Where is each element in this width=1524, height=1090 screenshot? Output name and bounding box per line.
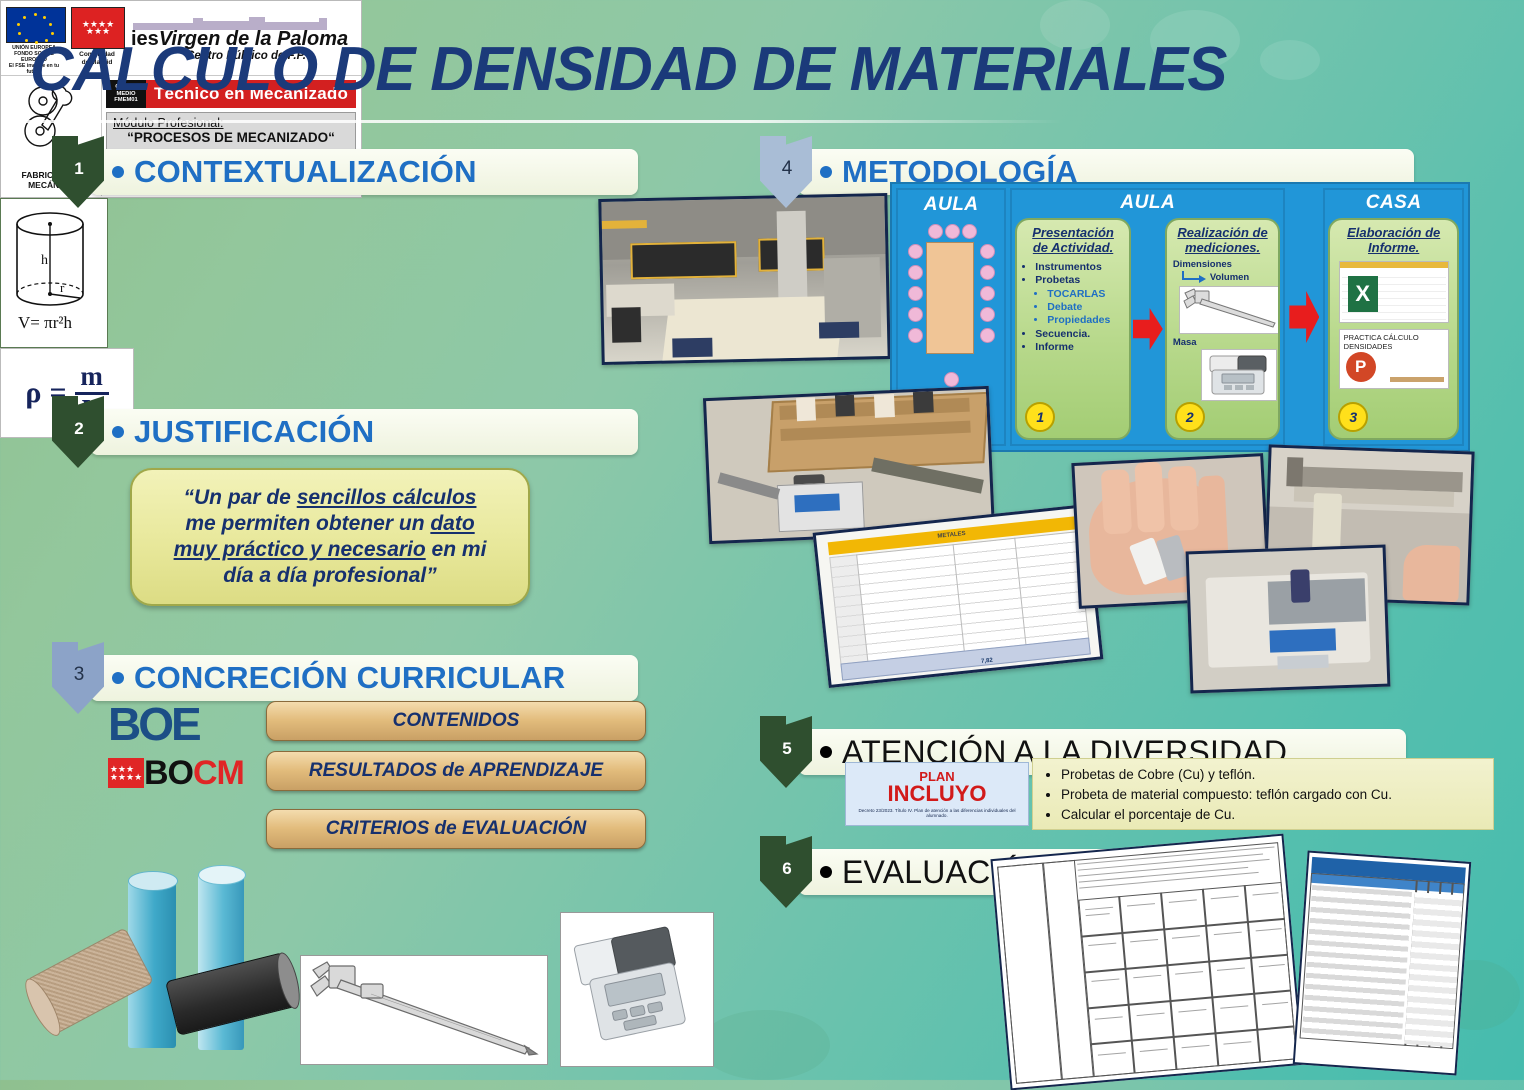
step-presentacion: Presentaciónde Actividad. Instrumentos P…	[1015, 218, 1131, 440]
chevron-5-icon: 5	[760, 716, 812, 788]
chevron-number: 4	[782, 158, 793, 180]
seat-icon	[908, 265, 923, 280]
scale-image-card	[560, 912, 714, 1067]
pill-label: CONTENIDOS	[393, 710, 520, 732]
bullet-icon	[820, 746, 832, 758]
chevron-1-icon: 1	[52, 136, 104, 208]
svg-text:h: h	[41, 253, 48, 268]
bullet-icon	[112, 672, 124, 684]
ppt-title-1: PRACTICA CÁLCULO	[1344, 333, 1419, 342]
digital-scale-icon	[1202, 350, 1274, 398]
arrow-right-icon-2	[1289, 291, 1319, 343]
step-subbullets: TOCARLAS Debate Propiedades	[1025, 288, 1123, 327]
casa-column: CASA Elaboración deInforme. X PRACTICA C…	[1323, 188, 1464, 446]
classroom-table	[926, 242, 974, 354]
aula-steps-column: AULA Presentaciónde Actividad. Instrumen…	[1010, 188, 1285, 446]
decreto-text: Decreto 23/2023. Título IV. Plan de aten…	[846, 808, 1028, 819]
pill-criterios-evaluacion[interactable]: CRITERIOS de EVALUACIÓN	[266, 809, 646, 849]
classroom-layout-diagram	[902, 220, 1000, 408]
step-title: Elaboración deInforme.	[1336, 225, 1451, 255]
bullet-icon	[112, 426, 124, 438]
aula-label-2-wrap: AULA	[1012, 190, 1283, 216]
title-divider	[22, 120, 1062, 123]
step-title: Realización demediciones.	[1173, 225, 1273, 255]
seat-icon	[980, 307, 995, 322]
plan-incluyo-logo: PLAN INCLUYO Decreto 23/2023. Título IV.…	[845, 762, 1029, 826]
chevron-6-icon: 6	[760, 836, 812, 908]
bg-blotch	[1260, 40, 1320, 80]
excel-icon: X	[1348, 276, 1378, 312]
list-item: Instrumentos	[1035, 261, 1123, 274]
svg-text:V= πr²h: V= πr²h	[18, 313, 72, 332]
cylinder-volume-card: h r V= πr²h	[0, 198, 108, 348]
bullet-icon	[820, 866, 832, 878]
masa-label: Masa	[1173, 337, 1273, 348]
aula-label: AULA	[924, 194, 979, 216]
section-label: CONTEXTUALIZACIÓN	[134, 154, 477, 190]
seat-icon	[980, 244, 995, 259]
section-header-justificacion: 2 JUSTIFICACIÓN	[52, 396, 638, 468]
list-item: Propiedades	[1047, 314, 1123, 327]
chevron-number: 5	[782, 739, 791, 759]
seat-icon	[945, 224, 960, 239]
list-item: Probeta de material compuesto: teflón ca…	[1061, 785, 1483, 805]
digital-scale-icon	[561, 913, 705, 1058]
page-title: CÁLCULO DE DENSIDAD DE MATERIALES	[30, 34, 1226, 105]
list-item: Calcular el porcentaje de Cu.	[1061, 805, 1483, 825]
madrid-flag-icon: ★★★★★★★	[71, 7, 125, 49]
bocm-logo: ★★★★★★★ BO CM	[108, 752, 262, 794]
step-mediciones: Realización demediciones. Dimensiones Vo…	[1165, 218, 1281, 440]
seat-icon	[908, 286, 923, 301]
weighing-photo	[1186, 545, 1391, 694]
step-bullets-2: Secuencia. Informe	[1025, 328, 1123, 354]
list-item: Probetas de Cobre (Cu) y teflón.	[1061, 765, 1483, 785]
svg-text:r: r	[60, 280, 65, 295]
step-badge: 1	[1025, 402, 1055, 432]
excel-thumb: X	[1339, 261, 1449, 323]
step-badge: 2	[1175, 402, 1205, 432]
caliper-thumb	[1179, 286, 1281, 334]
caliper-icon	[301, 956, 539, 1056]
list-item: Secuencia.	[1035, 328, 1123, 341]
step-badge: 3	[1338, 402, 1368, 432]
section-title-bar: CONCRECIÓN CURRICULAR	[90, 655, 638, 701]
list-item: TOCARLAS	[1047, 288, 1123, 301]
diversidad-bullet-list: Probetas de Cobre (Cu) y teflón. Probeta…	[1043, 765, 1483, 825]
seat-icon	[980, 265, 995, 280]
madrid-mini-flag-icon: ★★★★★★★	[108, 758, 144, 788]
rubric-document-2	[1293, 851, 1472, 1076]
list-item: Informe	[1035, 341, 1123, 354]
section-title-bar: CONTEXTUALIZACIÓN	[90, 149, 638, 195]
boe-text: BOE	[108, 698, 199, 750]
section-title-bar: JUSTIFICACIÓN	[90, 409, 638, 455]
bullet-icon	[820, 166, 832, 178]
caliper-image-card	[300, 955, 548, 1065]
building-silhouette-icon	[131, 14, 361, 30]
dimensiones-label: Dimensiones	[1173, 259, 1273, 270]
seat-icon	[908, 307, 923, 322]
spreadsheet-photo: METALES 7,82	[813, 504, 1104, 688]
chevron-number: 6	[782, 859, 791, 879]
arrow-elbow-icon	[1181, 270, 1207, 284]
volumen-label: Volumen	[1210, 272, 1249, 283]
seat-icon	[980, 286, 995, 301]
justificacion-quote-box: “Un par de sencillos cálculos me permite…	[130, 468, 530, 606]
bocm-bo-text: BO	[144, 754, 193, 793]
scale-thumb	[1201, 349, 1277, 401]
rho-symbol: ρ	[25, 376, 41, 410]
seat-icon	[962, 224, 977, 239]
seat-icon	[908, 244, 923, 259]
caliper-icon	[1180, 287, 1280, 329]
bocm-cm-text: CM	[193, 754, 244, 793]
ppt-thumb: PRACTICA CÁLCULO DENSIDADES P	[1339, 329, 1449, 389]
bg-blotch	[700, 1010, 830, 1080]
casa-label-wrap: CASA	[1325, 190, 1462, 216]
chevron-4-icon: 4	[760, 136, 812, 208]
step-informe: Elaboración deInforme. X PRACTICA CÁLCUL…	[1328, 218, 1459, 440]
chevron-number: 1	[74, 159, 83, 179]
quote-text: “Un par de sencillos cálculos me permite…	[174, 485, 487, 589]
powerpoint-icon: P	[1346, 352, 1376, 382]
poster-root: CÁLCULO DE DENSIDAD DE MATERIALES 1 CONT…	[0, 0, 1524, 1080]
section-label: JUSTIFICACIÓN	[134, 414, 374, 450]
chevron-number: 2	[74, 419, 83, 439]
pill-resultados-aprendizaje[interactable]: RESULTADOS de APRENDIZAJE	[266, 751, 646, 791]
steps-row: Presentaciónde Actividad. Instrumentos P…	[1012, 216, 1283, 444]
seat-icon	[944, 372, 959, 387]
volumen-row: Volumen	[1181, 270, 1273, 284]
aula-label-2: AULA	[1120, 192, 1175, 213]
arrow-right-icon	[1133, 308, 1163, 350]
sheet-volume-value: 7,82	[981, 657, 993, 664]
eu-flag-icon	[6, 7, 66, 43]
section-header-contextualizacion: 1 CONTEXTUALIZACIÓN	[52, 136, 638, 208]
rubric-document-1	[990, 834, 1303, 1090]
list-item: Debate	[1047, 301, 1123, 314]
bullet-icon	[112, 166, 124, 178]
casa-step-row: Elaboración deInforme. X PRACTICA CÁLCUL…	[1325, 216, 1462, 444]
chevron-number: 3	[74, 664, 85, 686]
chevron-3-icon: 3	[52, 642, 104, 714]
seat-icon	[928, 224, 943, 239]
pill-label: RESULTADOS de APRENDIZAJE	[309, 760, 603, 782]
list-item: Probetas	[1035, 274, 1123, 287]
plan-line-2: INCLUYO	[888, 783, 987, 805]
diversidad-notes: Probetas de Cobre (Cu) y teflón. Probeta…	[1032, 758, 1494, 830]
ppt-title-2: DENSIDADES	[1344, 342, 1393, 351]
boe-logo: BOE	[108, 697, 258, 745]
chevron-2-icon: 2	[52, 396, 104, 468]
seat-icon	[980, 328, 995, 343]
probetas-illustration	[20, 860, 320, 1060]
pill-label: CRITERIOS de EVALUACIÓN	[326, 818, 586, 840]
pill-contenidos[interactable]: CONTENIDOS	[266, 701, 646, 741]
step-bullets: Instrumentos Probetas	[1025, 261, 1123, 287]
casa-label: CASA	[1366, 192, 1422, 213]
modulo-label: Módulo Profesional:	[113, 116, 349, 130]
section-label: CONCRECIÓN CURRICULAR	[134, 660, 565, 696]
step-title: Presentaciónde Actividad.	[1023, 225, 1123, 255]
cylinder-diagram-icon: h r V= πr²h	[4, 202, 96, 336]
seat-icon	[908, 328, 923, 343]
workshop-photo	[598, 193, 890, 365]
fraction-numerator: m	[80, 364, 103, 390]
